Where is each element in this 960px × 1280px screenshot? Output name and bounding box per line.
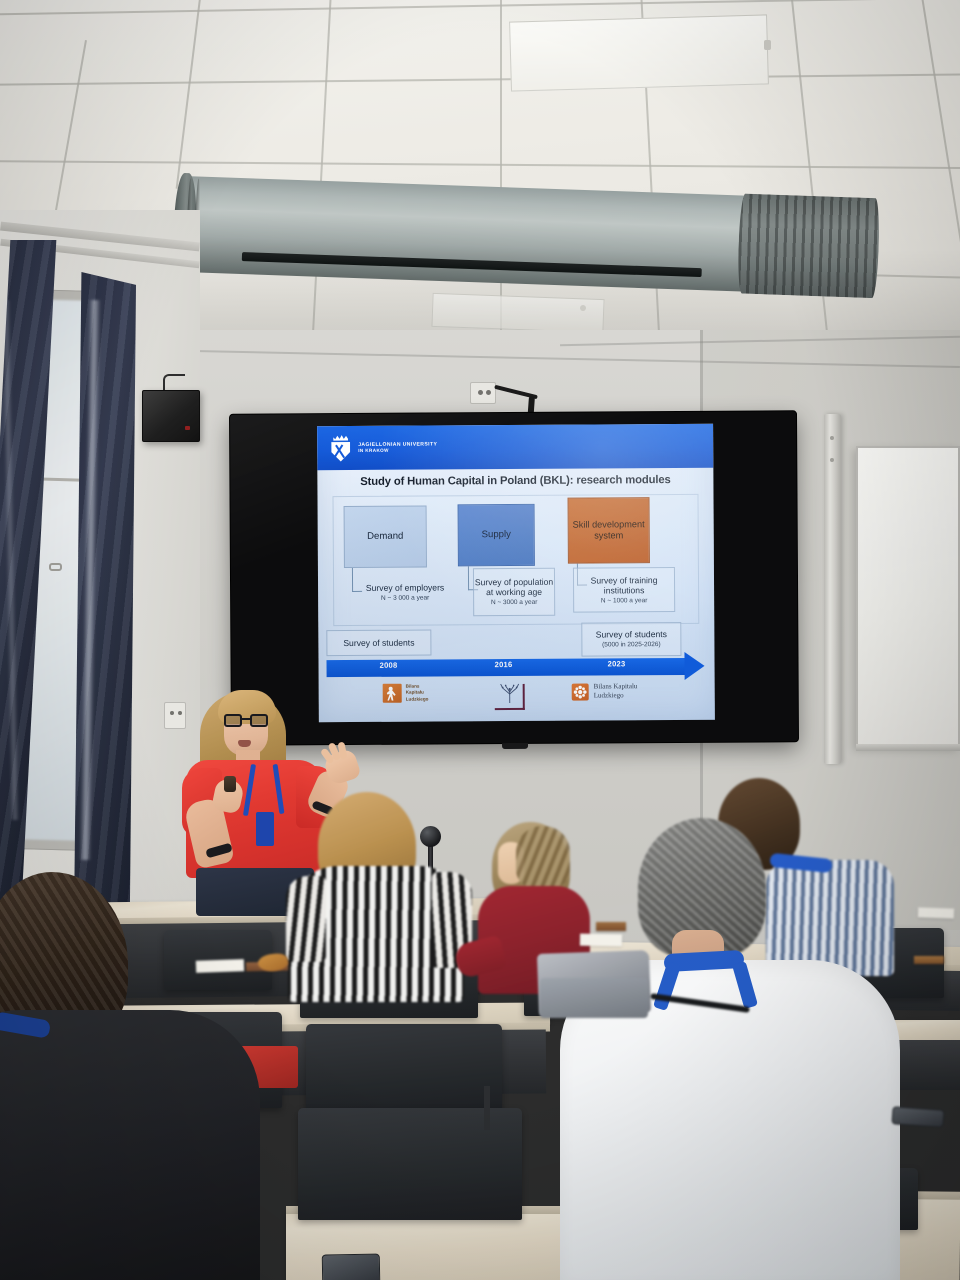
timeline-year-2008: 2008	[359, 661, 419, 670]
slide-header: JAGIELLONIAN UNIVERSITY IN KRAKOW	[317, 424, 713, 470]
wall-outlet[interactable]	[470, 382, 496, 404]
tree-logo	[495, 682, 529, 712]
chair[interactable]	[306, 1024, 502, 1114]
braided-hair	[516, 826, 570, 888]
presentation-clicker[interactable]	[224, 776, 236, 792]
module-box-demand: Demand	[344, 506, 427, 569]
torso	[766, 860, 894, 976]
whiteboard-tray	[856, 744, 960, 751]
badge	[256, 812, 274, 846]
microphone-icon[interactable]	[420, 826, 441, 847]
papers[interactable]	[918, 907, 954, 918]
mobile-phone[interactable]	[891, 1106, 944, 1128]
speaker-led-icon	[185, 426, 190, 430]
university-name-line2: IN KRAKOW	[358, 448, 437, 454]
bkl-logo-flower: Bilans KapitaluLudzkiego	[572, 682, 638, 701]
sprinkler-icon	[764, 40, 771, 50]
survey-box-students-2023: Survey of students (5000 in 2025-2026)	[581, 622, 681, 657]
whiteboard-rail	[824, 414, 841, 764]
right-arrow-icon	[684, 652, 704, 680]
survey-box-training-institutions: Survey of training institutions N ~ 1000…	[573, 567, 675, 613]
bkl-logo-orange: BilansKapitałuLudzkiego	[383, 684, 429, 703]
flower-icon	[572, 683, 589, 700]
wall-speaker	[142, 390, 200, 442]
tree-icon	[497, 683, 523, 703]
shield-crest-icon	[330, 434, 351, 461]
mobile-phone[interactable]	[322, 1253, 381, 1280]
lecture-room-photo: JAGIELLONIAN UNIVERSITY IN KRAKOW Study …	[0, 0, 960, 1280]
module-box-supply: Supply	[458, 504, 535, 566]
papers[interactable]	[196, 959, 244, 973]
bkl-figure-icon	[383, 684, 402, 703]
timeline-year-2016: 2016	[474, 660, 534, 669]
presentation-slide: JAGIELLONIAN UNIVERSITY IN KRAKOW Study …	[317, 424, 715, 722]
ceiling-light-panel	[509, 14, 769, 91]
glasses-icon	[224, 714, 268, 727]
survey-box-students-2008: Survey of students	[326, 630, 431, 657]
wall-outlet[interactable]	[164, 702, 186, 729]
survey-box-population: Survey of population at working age N ~ …	[473, 568, 555, 617]
window-handle[interactable]	[49, 563, 62, 571]
torso	[0, 1010, 260, 1280]
whiteboard[interactable]	[856, 446, 960, 748]
module-box-skill-development: Skill development system	[568, 497, 650, 563]
wall-mounted-display[interactable]: JAGIELLONIAN UNIVERSITY IN KRAKOW Study …	[230, 411, 798, 744]
display-stand-nub	[502, 743, 528, 749]
papers[interactable]	[914, 956, 944, 964]
slide-footer-logos: BilansKapitałuLudzkiego	[319, 680, 715, 716]
survey-box-employers: Survey of employers N ~ 3 000 a year	[346, 575, 464, 609]
papers[interactable]	[596, 922, 626, 931]
timeline-year-2023: 2023	[586, 659, 646, 668]
papers[interactable]	[580, 934, 622, 947]
bag-body[interactable]	[540, 978, 648, 1018]
slide-title: Study of Human Capital in Poland (BKL): …	[317, 474, 713, 488]
